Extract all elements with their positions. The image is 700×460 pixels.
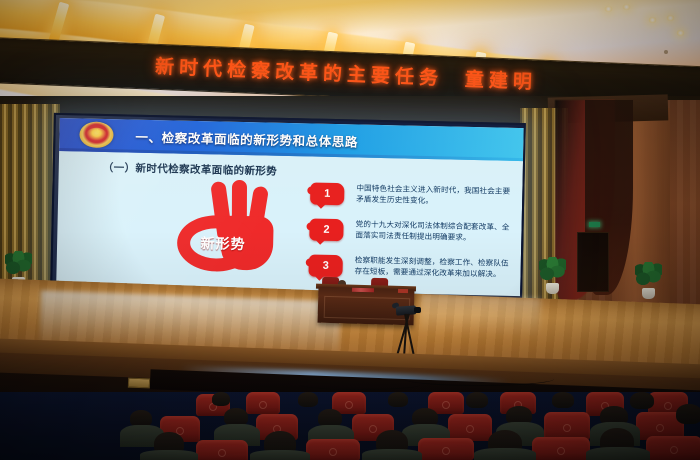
seat-headrest-icon (670, 446, 678, 454)
slide-header-bar: ★ 一、检察改革面临的新形势和总体思路 (59, 118, 524, 161)
procuratorate-emblem-icon: ★ (79, 121, 114, 148)
audience-head (630, 392, 654, 409)
plant-leaves-icon (635, 262, 662, 290)
plant-leaves-icon (539, 257, 566, 285)
audience-seat (646, 436, 700, 460)
seat-headrest-icon (259, 401, 267, 409)
bullet-text: 党的十九大对深化司法体制综合配套改革、全面落实司法责任制提出明确要求。 (355, 218, 509, 243)
audience-seat (448, 414, 492, 441)
emblem-star-icon: ★ (94, 129, 100, 136)
ceiling-spot-light (622, 4, 631, 10)
hand-gesture-graphic: 新形势 (169, 178, 289, 275)
wall-socket-icon (128, 378, 150, 389)
seat-headrest-icon (329, 448, 337, 456)
bullet-number-badge: 1 (310, 182, 344, 205)
ceiling-speaker-dot (664, 50, 668, 54)
bullet-number-badge: 2 (309, 218, 343, 241)
audience-head (298, 392, 318, 407)
audience-seat (246, 392, 280, 414)
bullet-number-badge: 3 (308, 254, 342, 277)
audience-shoulders (140, 450, 198, 460)
floor-cable (300, 380, 420, 390)
seat-headrest-icon (466, 425, 474, 433)
audience-head (552, 392, 574, 408)
slide-subtitle: （一）新时代检察改革面临的新形势 (103, 160, 278, 179)
audience-shoulders (250, 450, 310, 460)
exit-sign-icon (589, 222, 600, 227)
seat-headrest-icon (369, 425, 377, 433)
seat-headrest-icon (442, 401, 450, 409)
seat-headrest-icon (557, 447, 565, 455)
desk-items (352, 288, 374, 293)
seat-headrest-icon (664, 402, 672, 410)
audience-seat (196, 440, 248, 460)
ceiling-spot-light (676, 30, 685, 36)
seat-headrest-icon (218, 449, 226, 457)
seat-headrest-icon (656, 424, 664, 432)
slide-bullet-list: 1 中国特色社会主义进入新时代，我国社会主要矛盾发生历史性变化。 2 党的十九大… (308, 181, 510, 293)
slide-bullet-item: 1 中国特色社会主义进入新时代，我国社会主要矛盾发生历史性变化。 (310, 181, 511, 215)
slide-bullet-item: 2 党的十九大对深化司法体制综合配套改革、全面落实司法责任制提出明确要求。 (309, 217, 510, 251)
ceiling-spot-light (666, 15, 675, 21)
audience-seat (306, 439, 360, 460)
led-banner-speaker: 童建明 (464, 69, 537, 94)
seat-headrest-icon (563, 424, 571, 432)
presentation-slide: ★ 一、检察改革面临的新形势和总体思路 （一）新时代检察改革面临的新形势 新形势… (56, 118, 524, 297)
stage-side-door (577, 232, 609, 292)
desk-items (398, 289, 408, 293)
slide-header-title: 一、检察改革面临的新形势和总体思路 (135, 127, 358, 151)
audience-seat (532, 437, 590, 460)
ceiling-spot-light (648, 17, 657, 23)
plant-pot (546, 283, 559, 294)
audience-head (388, 392, 408, 407)
audience-head (676, 404, 700, 424)
seat-headrest-icon (345, 401, 353, 409)
plant-leaves-icon (5, 251, 32, 279)
ceiling-spot-light (604, 6, 613, 12)
bullet-text: 检察职能发生深刻调整，检察工作、检察队伍存在短板，需要通过深化改革来加以解决。 (354, 254, 508, 279)
audience-seat (544, 412, 590, 440)
audience-shoulders (362, 449, 422, 460)
bullet-text: 中国特色社会主义进入新时代，我国社会主要矛盾发生历史性变化。 (356, 182, 510, 207)
floor-cable (404, 372, 554, 386)
auditorium-scene: 新时代检察改革的主要任务童建明 ★ 一、检察改革面临的新形势和总体思路 （一）新… (0, 0, 700, 460)
audience-head (212, 392, 230, 406)
audience-head (466, 392, 488, 408)
audience-shoulders (474, 448, 536, 460)
audience-seat (418, 438, 474, 460)
stage-light-reflection (419, 294, 540, 338)
camera-lens-icon (414, 307, 421, 313)
seat-headrest-icon (442, 447, 450, 455)
led-banner-title: 新时代检察改革的主要任务 (155, 56, 444, 90)
plant-pot (642, 288, 655, 299)
audience-area (0, 392, 700, 460)
audience-shoulders (586, 447, 650, 460)
hand-graphic-label: 新形势 (191, 231, 256, 256)
projection-screen: ★ 一、检察改革面临的新形势和总体思路 （一）新时代检察改革面临的新形势 新形势… (50, 113, 526, 298)
